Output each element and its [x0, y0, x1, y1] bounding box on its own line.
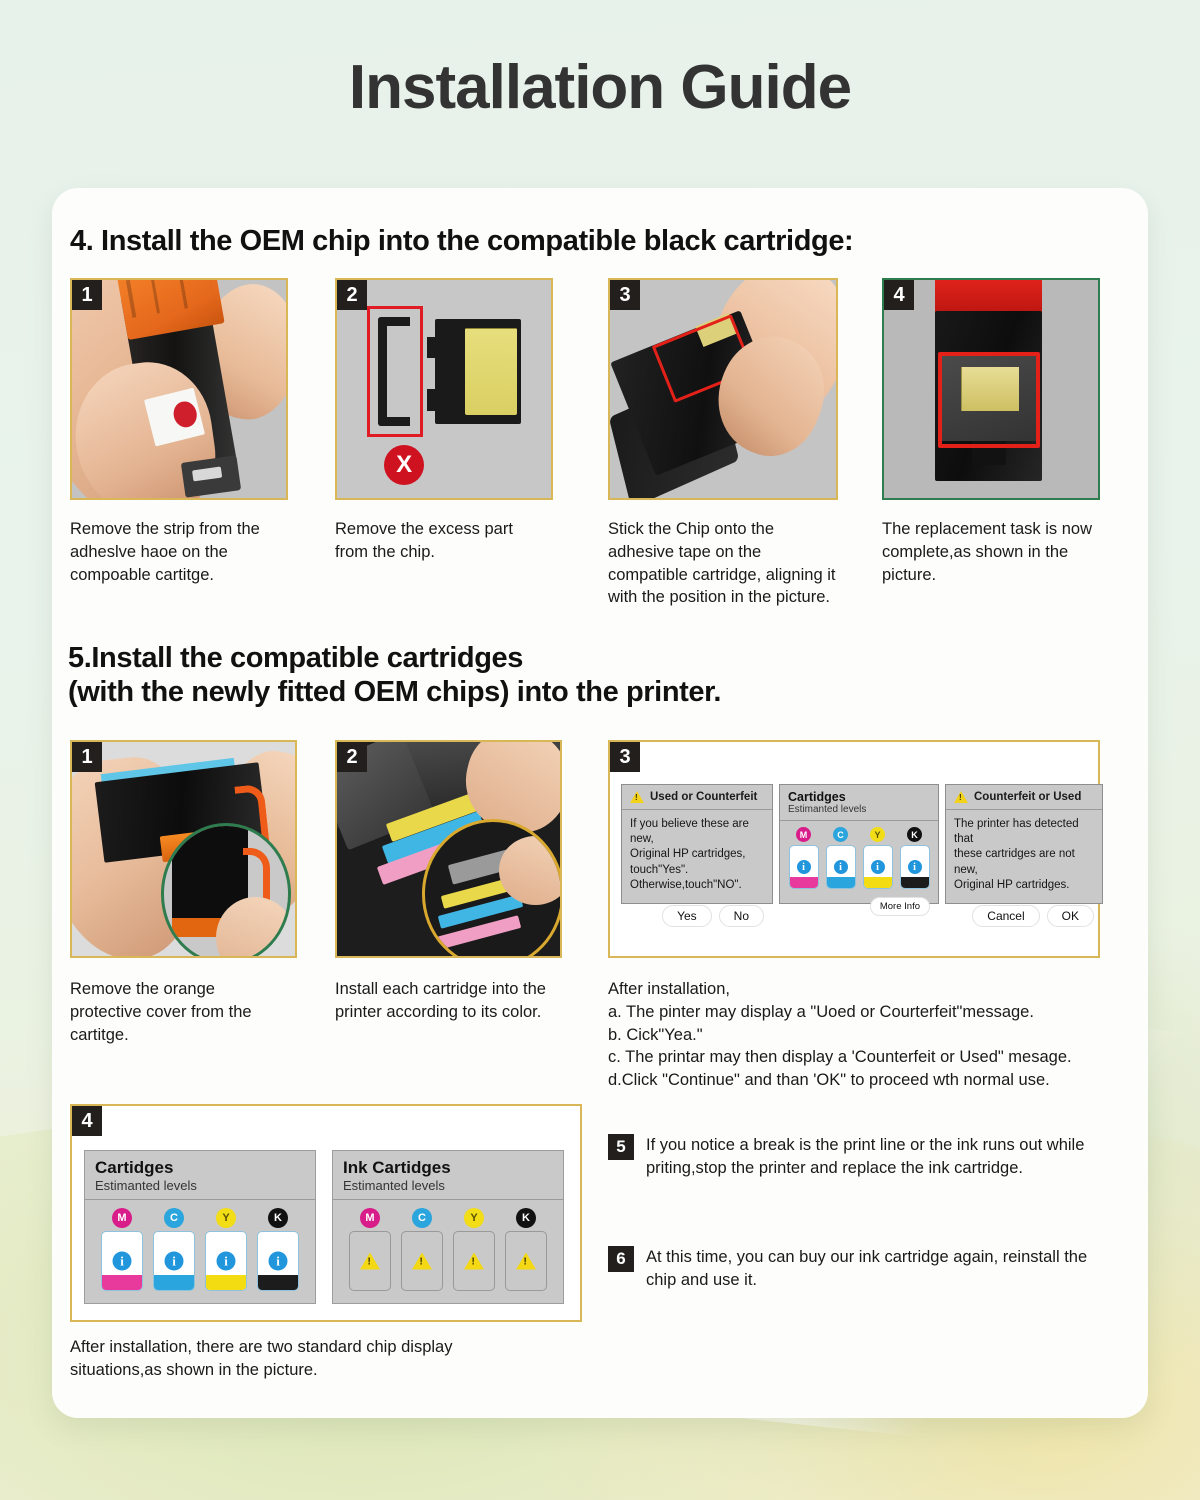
ink-meter-m: M	[349, 1208, 391, 1291]
after-install-line-d: d.Click "Continue" and than 'OK" to proc…	[608, 1069, 1108, 1092]
photo-install-cartridges-in-printer	[337, 742, 560, 956]
step5-caption-4: After installation, there are two standa…	[70, 1336, 540, 1382]
ink-meter-k: K i	[900, 827, 930, 889]
ink-meter-c: C i	[153, 1208, 195, 1291]
dialog-a-title: Used or Counterfeit	[650, 791, 757, 803]
section-4-heading: 4. Install the OEM chip into the compati…	[70, 224, 1130, 259]
step5-badge-4: 4	[72, 1106, 102, 1136]
step5-badge-3: 3	[610, 742, 640, 772]
warning-triangle-icon	[630, 791, 644, 803]
dialog-a-body: If you believe these are new, Original H…	[622, 810, 772, 900]
section-5-heading-line2: (with the newly fitted OEM chips) into t…	[68, 675, 1128, 710]
ink-dot-m: M	[112, 1208, 132, 1228]
step5-badge-2: 2	[337, 742, 367, 772]
after-install-line-c: c. The printar may then display a 'Count…	[608, 1046, 1108, 1069]
ink-dot-y: Y	[216, 1208, 236, 1228]
ink-dot-m: M	[796, 827, 811, 842]
ink-meter-k: K i	[257, 1208, 299, 1291]
dialog-b-title: Cartidges	[788, 790, 930, 804]
ink-dot-c: C	[833, 827, 848, 842]
info-circle-icon: i	[269, 1252, 288, 1271]
step4-photo-3: 3	[608, 278, 838, 500]
step5-caption-1: Remove the orange protective cover from …	[70, 978, 285, 1046]
ink-dot-k: K	[907, 827, 922, 842]
ink-meter-c: C i	[826, 827, 856, 889]
step4-badge-2: 2	[337, 280, 367, 310]
ink-tank-k: i	[900, 845, 930, 889]
p4l-title: Cartidges	[95, 1158, 305, 1178]
info-circle-icon: i	[908, 860, 922, 874]
ink-tank-m	[349, 1231, 391, 1291]
ink-tank-y	[453, 1231, 495, 1291]
warning-triangle-icon	[516, 1253, 536, 1270]
step4-caption-4: The replacement task is now complete,as …	[882, 518, 1097, 586]
dialog-counterfeit-or-used: Counterfeit or Used The printer has dete…	[945, 784, 1103, 904]
ink-meter-y: Y i	[863, 827, 893, 889]
info-circle-icon: i	[165, 1252, 184, 1271]
step5-panel-4: 4 Cartidges Estimanted levels M i C i	[70, 1104, 582, 1322]
ink-tank-k	[505, 1231, 547, 1291]
ink-tank-m: i	[101, 1231, 143, 1291]
step4-badge-3: 3	[610, 280, 640, 310]
note-6-text: At this time, you can buy our ink cartri…	[646, 1246, 1106, 1292]
after-install-line-b: b. Cick"Yea."	[608, 1024, 1108, 1047]
p4l-meters: M i C i Y i K i	[85, 1200, 315, 1303]
dialog-c-body: The printer has detected that these cart…	[946, 810, 1102, 900]
ink-tank-k: i	[257, 1231, 299, 1291]
warning-triangle-icon	[412, 1253, 432, 1270]
step4-badge-4: 4	[884, 280, 914, 310]
warning-triangle-icon	[954, 791, 968, 803]
info-circle-icon: i	[834, 860, 848, 874]
warning-triangle-icon	[464, 1253, 484, 1270]
ink-dot-c: C	[412, 1208, 432, 1228]
ink-meter-c: C	[401, 1208, 443, 1291]
photo-stick-chip-onto-tape	[610, 280, 836, 498]
photo-remove-adhesive-strip	[72, 280, 286, 498]
ink-tank-c: i	[153, 1231, 195, 1291]
photo-remove-orange-cover	[72, 742, 295, 956]
dialog-b-actions: More Info	[780, 897, 938, 922]
p4r-subtitle: Estimanted levels	[343, 1178, 553, 1194]
p4r-meters: M C Y K	[333, 1200, 563, 1303]
step4-caption-2: Remove the excess part from the chip.	[335, 518, 535, 564]
ink-meter-y: Y i	[205, 1208, 247, 1291]
step4-caption-3: Stick the Chip onto the adhesive tape on…	[608, 518, 836, 609]
after-install-lead: After installation,	[608, 978, 1108, 1001]
photo-chip-excess-part: X	[337, 280, 551, 498]
section-5-heading-line1: 5.Install the compatible cartridges	[68, 641, 1128, 676]
dialog-c-header: Counterfeit or Used	[946, 785, 1102, 810]
ink-dot-k: K	[516, 1208, 536, 1228]
page-title: Installation Guide	[0, 52, 1200, 123]
note-5: 5 If you notice a break is the print lin…	[608, 1134, 1106, 1180]
dialog-b-header: Cartidges Estimanted levels	[780, 785, 938, 821]
no-button[interactable]: No	[719, 905, 764, 927]
step5-badge-1: 1	[72, 742, 102, 772]
x-circle-icon: X	[384, 445, 424, 485]
note-6-badge: 6	[608, 1246, 634, 1272]
more-info-button[interactable]: More Info	[870, 897, 930, 916]
ink-dot-y: Y	[870, 827, 885, 842]
dialog-cartridge-levels: Cartidges Estimanted levels M i C i Y i	[779, 784, 939, 904]
note-5-text: If you notice a break is the print line …	[646, 1134, 1106, 1180]
ink-meter-m: M i	[789, 827, 819, 889]
dialog-c-actions: Cancel OK	[946, 900, 1102, 933]
dialog-used-or-counterfeit: Used or Counterfeit If you believe these…	[621, 784, 773, 904]
zoom-inset-circle	[161, 823, 290, 958]
cancel-button[interactable]: Cancel	[972, 905, 1039, 927]
info-circle-icon: i	[217, 1252, 236, 1271]
note-5-badge: 5	[608, 1134, 634, 1160]
ink-meter-k: K	[505, 1208, 547, 1291]
ink-level-meters: M i C i Y i K i	[780, 821, 938, 897]
ok-button[interactable]: OK	[1047, 905, 1094, 927]
note-6: 6 At this time, you can buy our ink cart…	[608, 1246, 1106, 1292]
ink-dot-m: M	[360, 1208, 380, 1228]
dialog-a-actions: Yes No	[622, 900, 772, 933]
display-cartridges-filled: Cartidges Estimanted levels M i C i Y i	[84, 1150, 316, 1304]
p4l-header: Cartidges Estimanted levels	[85, 1151, 315, 1200]
ink-meter-m: M i	[101, 1208, 143, 1291]
step5-photo-2: 2	[335, 740, 562, 958]
step5-caption-2: Install each cartridge into the printer …	[335, 978, 550, 1024]
after-install-line-a: a. The pinter may display a "Uoed or Cou…	[608, 1001, 1108, 1024]
after-installation-notes: After installation, a. The pinter may di…	[608, 978, 1108, 1092]
ink-meter-y: Y	[453, 1208, 495, 1291]
photo-replacement-complete	[884, 280, 1098, 498]
p4l-subtitle: Estimanted levels	[95, 1178, 305, 1194]
info-circle-icon: i	[797, 860, 811, 874]
step4-caption-1: Remove the strip from the adheslve haoe …	[70, 518, 270, 586]
step4-photo-1: 1	[70, 278, 288, 500]
p4r-title: Ink Cartidges	[343, 1158, 553, 1178]
ink-tank-y: i	[863, 845, 893, 889]
ink-tank-y: i	[205, 1231, 247, 1291]
content-card: 4. Install the OEM chip into the compati…	[52, 188, 1148, 1418]
ink-dot-y: Y	[464, 1208, 484, 1228]
warning-triangle-icon	[360, 1253, 380, 1270]
step5-panel-3: 3 Used or Counterfeit If you believe the…	[608, 740, 1100, 958]
dialog-b-subtitle: Estimanted levels	[788, 804, 930, 816]
zoom-inset-circle	[422, 819, 562, 958]
yes-button[interactable]: Yes	[662, 905, 712, 927]
info-circle-icon: i	[113, 1252, 132, 1271]
ink-dot-k: K	[268, 1208, 288, 1228]
ink-tank-c	[401, 1231, 443, 1291]
p4r-header: Ink Cartidges Estimanted levels	[333, 1151, 563, 1200]
dialog-a-header: Used or Counterfeit	[622, 785, 772, 810]
step5-photo-1: 1	[70, 740, 297, 958]
step4-photo-4: 4	[882, 278, 1100, 500]
step4-badge-1: 1	[72, 280, 102, 310]
step4-photo-2: 2 X	[335, 278, 553, 500]
ink-tank-c: i	[826, 845, 856, 889]
info-circle-icon: i	[871, 860, 885, 874]
dialog-c-title: Counterfeit or Used	[974, 791, 1081, 803]
ink-tank-m: i	[789, 845, 819, 889]
ink-dot-c: C	[164, 1208, 184, 1228]
display-ink-cartridges-warning: Ink Cartidges Estimanted levels M C Y	[332, 1150, 564, 1304]
